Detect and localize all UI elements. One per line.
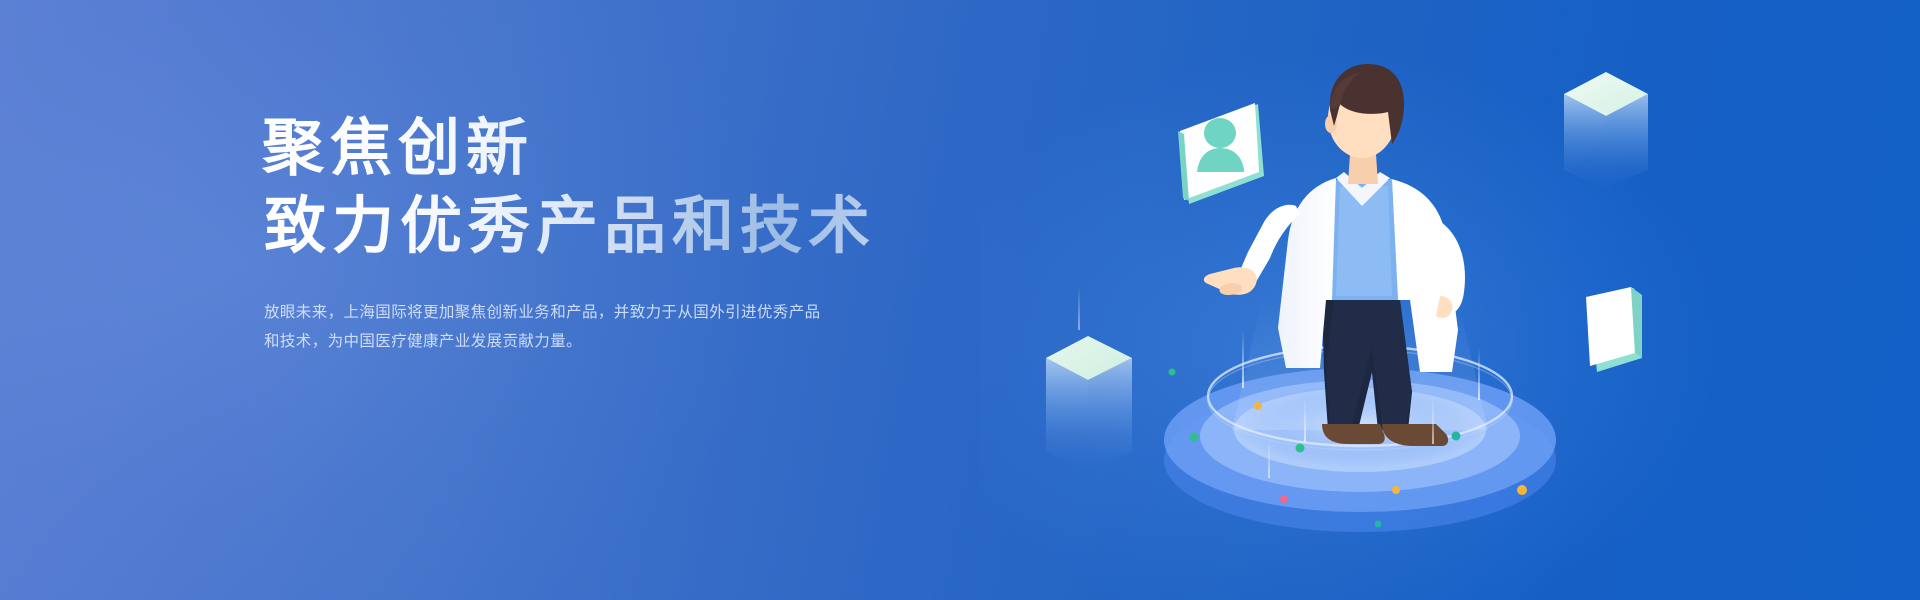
floating-white-card	[1586, 287, 1642, 372]
user-profile-card	[1178, 103, 1264, 204]
isometric-bar-right	[1564, 72, 1648, 188]
floating-particles	[1169, 369, 1528, 528]
teal-dot	[1375, 521, 1382, 528]
green-dot	[1296, 444, 1305, 453]
green-dot	[1169, 369, 1176, 376]
pink-dot	[1280, 495, 1288, 503]
subtitle-line-2: 和技术，为中国医疗健康产业发展贡献力量。	[264, 328, 864, 357]
headline-line-2: 致力优秀产品和技术	[264, 186, 982, 268]
teal-dot	[1452, 432, 1461, 441]
doctor-figure	[1204, 64, 1465, 446]
shoe-right	[1382, 424, 1448, 446]
shoe-left	[1322, 424, 1385, 444]
green-dot	[1190, 433, 1199, 442]
hero-subtitle: 放眼未来，上海国际将更加聚焦创新业务和产品，并致力于从国外引进优秀产品 和技术，…	[264, 299, 864, 356]
orange-dot	[1254, 402, 1262, 410]
orange-dot	[1517, 485, 1527, 495]
headline-line-1: 聚焦创新	[262, 108, 982, 190]
holographic-platform	[1164, 300, 1556, 532]
hero-text-block: 聚焦创新 致力优秀产品和技术 放眼未来，上海国际将更加聚焦创新业务和产品，并致力…	[262, 108, 982, 356]
person-glyph-icon	[1197, 118, 1244, 172]
pointing-hand	[1204, 267, 1257, 295]
background-glow-right	[980, 40, 1740, 600]
light-streaks	[1078, 286, 1480, 478]
hero-banner: 聚焦创新 致力优秀产品和技术 放眼未来，上海国际将更加聚焦创新业务和产品，并致力…	[0, 0, 1920, 600]
orange-dot	[1392, 486, 1400, 494]
isometric-bar-left	[1046, 336, 1132, 470]
subtitle-line-1: 放眼未来，上海国际将更加聚焦创新业务和产品，并致力于从国外引进优秀产品	[264, 299, 864, 328]
